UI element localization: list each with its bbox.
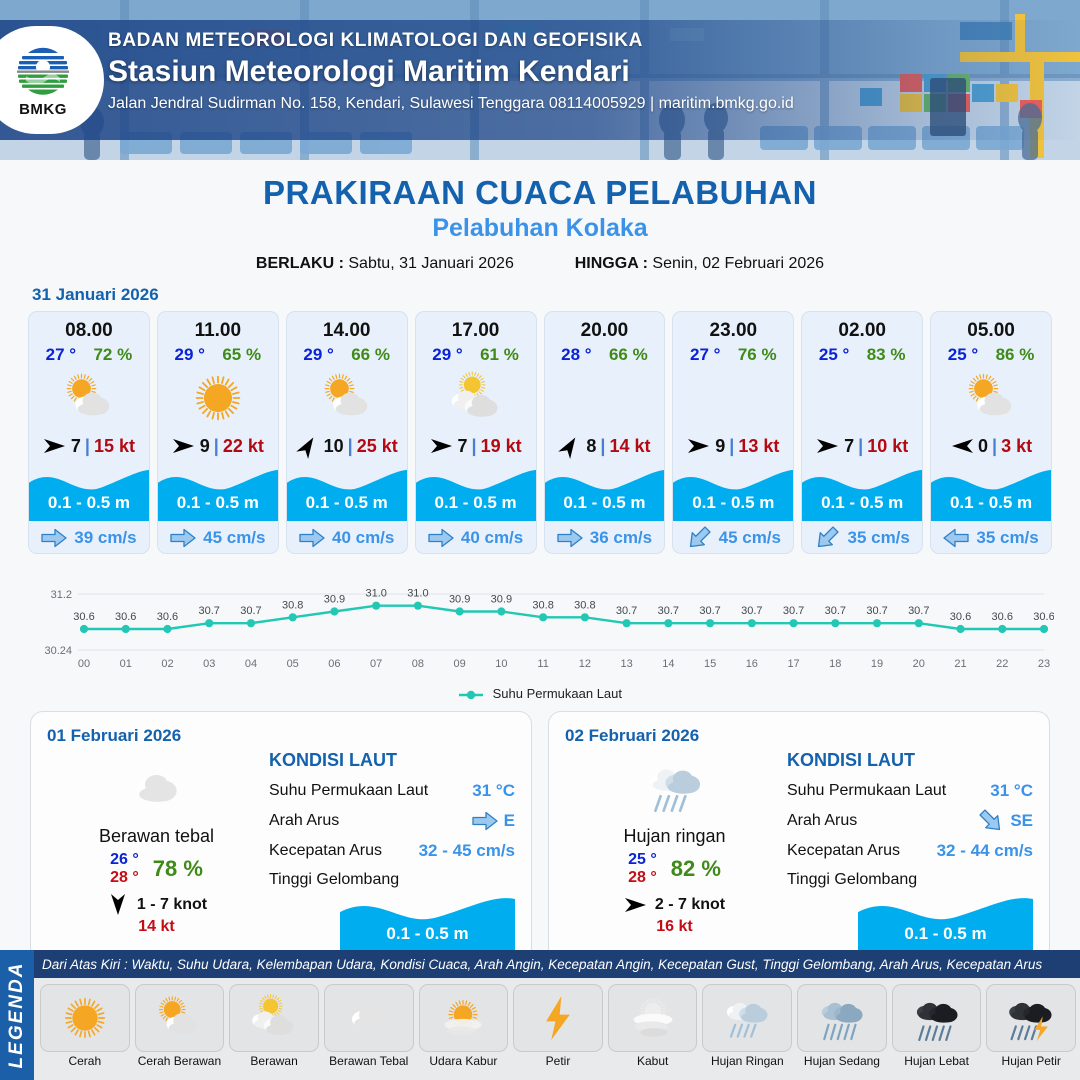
clouds-icon xyxy=(703,368,763,428)
legend-item-label: Cerah xyxy=(68,1055,101,1068)
daily-temp-max: 28 ° xyxy=(628,869,657,887)
agency-name: BADAN METEOROLOGI KLIMATOLOGI DAN GEOFIS… xyxy=(108,30,794,52)
sun-cloud-icon xyxy=(59,368,119,428)
svg-text:30.9: 30.9 xyxy=(324,594,345,606)
legend-item: Hujan Petir xyxy=(986,984,1076,1078)
current-direction-arrow-icon xyxy=(811,522,844,554)
card-weather-icon-wrap xyxy=(29,367,149,429)
legend-item: Petir xyxy=(513,984,603,1078)
sea-row-value: 32 - 44 cm/s xyxy=(937,841,1033,861)
sea-row-label: Tinggi Gelombang xyxy=(787,871,917,889)
card-wind: 8 | 14 kt xyxy=(545,429,665,463)
forecast-card[interactable]: 14.00 29 ° 66 % 10 | 25 kt 0.1 - 0.5 m 4… xyxy=(286,311,408,554)
forecast-card[interactable]: 17.00 29 ° 61 % 7 | 19 kt 0.1 - 0.5 m 40… xyxy=(415,311,537,554)
forecast-card[interactable]: 02.00 25 ° 83 % 7 | 10 kt 0.1 - 0.5 m 35… xyxy=(801,311,923,554)
current-direction-arrow-icon xyxy=(41,528,67,548)
daily-condition: Hujan ringan xyxy=(567,826,782,847)
card-wind: 10 | 25 kt xyxy=(287,429,407,463)
daily-temps: 26 ° 28 ° 78 % xyxy=(49,851,264,888)
card-temp-hum: 28 ° 66 % xyxy=(545,342,665,365)
cloud-icon xyxy=(342,991,396,1045)
rain-light-icon xyxy=(642,755,708,821)
card-wind-degree: 0 xyxy=(978,436,988,457)
svg-text:07: 07 xyxy=(370,658,382,670)
legend-item-label: Hujan Petir xyxy=(1002,1055,1061,1068)
daily-weather-icon-wrap xyxy=(49,754,264,822)
svg-text:30.8: 30.8 xyxy=(282,599,303,611)
legend-icon-box xyxy=(229,984,319,1052)
wind-direction-arrow-icon xyxy=(43,436,67,456)
forecast-card[interactable]: 05.00 25 ° 86 % 0 | 3 kt 0.1 - 0.5 m 35 … xyxy=(930,311,1052,554)
daily-left: Berawan tebal 26 ° 28 ° 78 % 1 - 7 knot … xyxy=(49,754,264,936)
svg-text:31.0: 31.0 xyxy=(407,588,428,600)
card-wave: 0.1 - 0.5 m xyxy=(29,463,149,521)
legend-icon-box xyxy=(324,984,414,1052)
svg-text:30.7: 30.7 xyxy=(783,605,804,617)
card-current: 45 cm/s xyxy=(158,521,278,554)
card-wind-separator: | xyxy=(600,436,605,457)
sea-row-value-wrap: 31 °C xyxy=(990,781,1033,801)
current-direction-arrow-icon xyxy=(299,528,325,548)
haze-icon xyxy=(436,991,490,1045)
current-direction-arrow-icon xyxy=(170,528,196,548)
sun-cloud-icon xyxy=(961,368,1021,428)
sea-row-value: 32 - 45 cm/s xyxy=(419,841,515,861)
daily-forecast-row: 01 Februari 2026 Berawan tebal 26 ° 28 °… xyxy=(0,701,1080,961)
wind-direction-arrow-icon xyxy=(108,893,128,917)
daily-wave: 0.1 - 0.5 m xyxy=(858,891,1033,953)
svg-text:30.7: 30.7 xyxy=(240,605,261,617)
fog-icon xyxy=(626,991,680,1045)
svg-text:30.7: 30.7 xyxy=(825,605,846,617)
svg-text:12: 12 xyxy=(579,658,591,670)
daily-gust: 16 kt xyxy=(567,918,782,936)
card-time: 08.00 xyxy=(29,312,149,342)
card-wind: 9 | 22 kt xyxy=(158,429,278,463)
svg-text:16: 16 xyxy=(746,658,758,670)
legend-note: Dari Atas Kiri : Waktu, Suhu Udara, Kele… xyxy=(34,950,1080,978)
card-wind-separator: | xyxy=(858,436,863,457)
card-temperature: 29 ° xyxy=(432,345,462,365)
card-temperature: 27 ° xyxy=(46,345,76,365)
forecast-card[interactable]: 11.00 29 ° 65 % 9 | 22 kt 0.1 - 0.5 m 45… xyxy=(157,311,279,554)
current-direction-arrow-icon xyxy=(943,528,969,548)
card-gust: 25 kt xyxy=(357,436,398,457)
bmkg-logo: BMKG xyxy=(0,26,104,134)
legend-icon-box xyxy=(40,984,130,1052)
sea-conditions-title: KONDISI LAUT xyxy=(787,750,1033,771)
current-direction-arrow-icon xyxy=(428,528,454,548)
legend-item: Berawan Tebal xyxy=(324,984,414,1078)
card-wind: 0 | 3 kt xyxy=(931,429,1051,463)
page-subtitle: Pelabuhan Kolaka xyxy=(0,214,1080,243)
card-humidity: 86 % xyxy=(996,345,1035,365)
legend-item: Kabut xyxy=(608,984,698,1078)
svg-text:15: 15 xyxy=(704,658,716,670)
sea-row-label: Tinggi Gelombang xyxy=(269,871,399,889)
card-wind-degree: 9 xyxy=(200,436,210,457)
svg-text:30.24: 30.24 xyxy=(44,645,72,657)
legend-item-label: Cerah Berawan xyxy=(138,1055,221,1068)
card-wind-separator: | xyxy=(992,436,997,457)
sun-cloud-icon xyxy=(152,991,206,1045)
card-weather-icon-wrap xyxy=(802,367,922,429)
card-temp-hum: 29 ° 61 % xyxy=(416,342,536,365)
legend-item-label: Berawan Tebal xyxy=(329,1055,408,1068)
svg-text:30.6: 30.6 xyxy=(992,611,1013,623)
svg-text:30.6: 30.6 xyxy=(73,611,94,623)
valid-from-label: BERLAKU : xyxy=(256,255,344,272)
card-current-speed: 35 cm/s xyxy=(847,528,909,548)
card-wind-degree: 7 xyxy=(458,436,468,457)
daily-wind-range: 1 - 7 knot xyxy=(137,896,207,914)
svg-text:13: 13 xyxy=(620,658,632,670)
forecast-card[interactable]: 20.00 28 ° 66 % 8 | 14 kt 0.1 - 0.5 m 36… xyxy=(544,311,666,554)
card-temperature: 25 ° xyxy=(819,345,849,365)
card-wave: 0.1 - 0.5 m xyxy=(158,463,278,521)
daily-temp-max: 28 ° xyxy=(110,869,139,887)
sea-row-label: Kecepatan Arus xyxy=(787,842,900,860)
sea-row-label: Kecepatan Arus xyxy=(269,842,382,860)
forecast-card[interactable]: 23.00 27 ° 76 % 9 | 13 kt 0.1 - 0.5 m 45… xyxy=(672,311,794,554)
daily-panel[interactable]: 02 Februari 2026 Hujan ringan 25 ° 28 ° … xyxy=(548,711,1050,961)
wind-direction-arrow-icon xyxy=(816,436,840,456)
svg-text:21: 21 xyxy=(954,658,966,670)
clouds-icon xyxy=(574,368,634,428)
legend-item: Hujan Sedang xyxy=(797,984,887,1078)
card-wave-height: 0.1 - 0.5 m xyxy=(673,493,793,513)
svg-text:08: 08 xyxy=(412,658,424,670)
sea-row-value-wrap: E xyxy=(472,811,515,831)
wind-direction-arrow-icon xyxy=(293,431,323,462)
legend-icon-box xyxy=(513,984,603,1052)
card-gust: 22 kt xyxy=(223,436,264,457)
sea-row: Suhu Permukaan Laut 31 °C xyxy=(787,781,1033,801)
wind-direction-arrow-icon xyxy=(950,436,974,456)
card-wave: 0.1 - 0.5 m xyxy=(545,463,665,521)
current-direction-arrow-icon xyxy=(975,805,1008,838)
valid-until-label: HINGGA : xyxy=(575,255,648,272)
svg-text:18: 18 xyxy=(829,658,841,670)
card-wind-separator: | xyxy=(348,436,353,457)
current-direction-arrow-icon xyxy=(682,522,715,554)
card-wave: 0.1 - 0.5 m xyxy=(287,463,407,521)
card-time: 05.00 xyxy=(931,312,1051,342)
card-time: 14.00 xyxy=(287,312,407,342)
card-wind: 7 | 15 kt xyxy=(29,429,149,463)
card-wave-height: 0.1 - 0.5 m xyxy=(802,493,922,513)
svg-text:23: 23 xyxy=(1038,658,1050,670)
card-wind: 9 | 13 kt xyxy=(673,429,793,463)
legend-item: Berawan xyxy=(229,984,319,1078)
card-gust: 19 kt xyxy=(481,436,522,457)
card-wind: 7 | 10 kt xyxy=(802,429,922,463)
card-wave: 0.1 - 0.5 m xyxy=(802,463,922,521)
sea-row: Tinggi Gelombang xyxy=(269,871,515,889)
card-temp-hum: 27 ° 72 % xyxy=(29,342,149,365)
card-wave: 0.1 - 0.5 m xyxy=(416,463,536,521)
legend-item-label: Kabut xyxy=(637,1055,668,1068)
card-temperature: 25 ° xyxy=(948,345,978,365)
card-current-speed: 45 cm/s xyxy=(719,528,781,548)
legend-icon-box xyxy=(797,984,887,1052)
svg-text:30.7: 30.7 xyxy=(658,605,679,617)
svg-text:03: 03 xyxy=(203,658,215,670)
card-current: 40 cm/s xyxy=(416,521,536,554)
card-wind-separator: | xyxy=(729,436,734,457)
card-current-speed: 39 cm/s xyxy=(74,528,136,548)
svg-text:30.7: 30.7 xyxy=(199,605,220,617)
svg-text:11: 11 xyxy=(537,658,548,670)
card-time: 11.00 xyxy=(158,312,278,342)
card-gust: 15 kt xyxy=(94,436,135,457)
legend-icon-box xyxy=(135,984,225,1052)
station-name: Stasiun Meteorologi Maritim Kendari xyxy=(108,55,794,89)
card-current-speed: 40 cm/s xyxy=(332,528,394,548)
sea-row-value-wrap: 32 - 44 cm/s xyxy=(937,841,1033,861)
sea-row-value: 31 °C xyxy=(472,781,515,801)
card-weather-icon-wrap xyxy=(673,367,793,429)
daily-gust: 14 kt xyxy=(49,918,264,936)
legend-item: Cerah Berawan xyxy=(135,984,225,1078)
svg-text:05: 05 xyxy=(287,658,299,670)
card-wave: 0.1 - 0.5 m xyxy=(931,463,1051,521)
svg-text:30.6: 30.6 xyxy=(1033,611,1054,623)
clouds-icon xyxy=(832,368,892,428)
card-temperature: 28 ° xyxy=(561,345,591,365)
legend-items: Cerah Cerah Berawan Berawan Berawan Teba… xyxy=(34,978,1080,1080)
page-header: BMKG BADAN METEOROLOGI KLIMATOLOGI DAN G… xyxy=(0,0,1080,160)
station-address: Jalan Jendral Sudirman No. 158, Kendari,… xyxy=(108,95,794,113)
daily-wave: 0.1 - 0.5 m xyxy=(340,891,515,953)
svg-text:09: 09 xyxy=(454,658,466,670)
legend-side-title: LEGENDA xyxy=(6,962,28,1069)
card-wind-degree: 10 xyxy=(324,436,344,457)
hourly-forecast-row: 08.00 27 ° 72 % 7 | 15 kt 0.1 - 0.5 m 39… xyxy=(0,311,1080,554)
card-time: 20.00 xyxy=(545,312,665,342)
legend-icon-box xyxy=(986,984,1076,1052)
legend-icon-box xyxy=(419,984,509,1052)
svg-text:31.0: 31.0 xyxy=(365,588,386,600)
sea-row-label: Arah Arus xyxy=(269,812,339,830)
card-gust: 10 kt xyxy=(867,436,908,457)
sea-row: Tinggi Gelombang xyxy=(787,871,1033,889)
card-wind: 7 | 19 kt xyxy=(416,429,536,463)
daily-weather-icon-wrap xyxy=(567,754,782,822)
card-wind-separator: | xyxy=(85,436,90,457)
valid-until-value: Senin, 02 Februari 2026 xyxy=(652,255,824,272)
card-current-speed: 45 cm/s xyxy=(203,528,265,548)
wind-direction-arrow-icon xyxy=(430,436,454,456)
lightning-icon xyxy=(531,991,585,1045)
card-wind-separator: | xyxy=(214,436,219,457)
daily-wave-height: 0.1 - 0.5 m xyxy=(340,924,515,944)
sun-cloud-icon xyxy=(317,368,377,428)
card-current-speed: 35 cm/s xyxy=(976,528,1038,548)
svg-text:10: 10 xyxy=(495,658,507,670)
legend-item-label: Udara Kabur xyxy=(429,1055,497,1068)
legend-item: Cerah xyxy=(40,984,130,1078)
svg-text:04: 04 xyxy=(245,658,257,670)
svg-text:30.7: 30.7 xyxy=(741,605,762,617)
legend-icon-box xyxy=(608,984,698,1052)
card-weather-icon-wrap xyxy=(416,367,536,429)
card-wind-degree: 7 xyxy=(71,436,81,457)
daily-sea-conditions: KONDISI LAUT Suhu Permukaan Laut 31 °C A… xyxy=(787,750,1033,889)
sea-row: Arah Arus SE xyxy=(787,811,1033,831)
sea-row-label: Suhu Permukaan Laut xyxy=(787,782,946,800)
sea-row: Arah Arus E xyxy=(269,811,515,831)
legend-item-label: Petir xyxy=(546,1055,571,1068)
rain-moderate-icon xyxy=(815,991,869,1045)
bmkg-emblem-icon xyxy=(12,43,74,99)
page-title: PRAKIRAAN CUACA PELABUHAN xyxy=(0,174,1080,212)
card-temp-hum: 29 ° 65 % xyxy=(158,342,278,365)
card-gust: 14 kt xyxy=(609,436,650,457)
daily-sea-conditions: KONDISI LAUT Suhu Permukaan Laut 31 °C A… xyxy=(269,750,515,889)
svg-text:00: 00 xyxy=(78,658,90,670)
legend-item-label: Hujan Sedang xyxy=(804,1055,880,1068)
wind-direction-arrow-icon xyxy=(624,895,648,915)
card-wave: 0.1 - 0.5 m xyxy=(673,463,793,521)
daily-wind: 2 - 7 knot xyxy=(567,895,782,915)
card-current: 39 cm/s xyxy=(29,521,149,554)
svg-text:30.9: 30.9 xyxy=(491,594,512,606)
card-wind-degree: 9 xyxy=(715,436,725,457)
card-wave-height: 0.1 - 0.5 m xyxy=(545,493,665,513)
card-wave-height: 0.1 - 0.5 m xyxy=(931,493,1051,513)
card-wave-height: 0.1 - 0.5 m xyxy=(287,493,407,513)
card-wind-degree: 8 xyxy=(586,436,596,457)
card-humidity: 83 % xyxy=(867,345,906,365)
sun-icon xyxy=(188,368,248,428)
wind-direction-arrow-icon xyxy=(172,436,196,456)
daily-temp-min: 26 ° xyxy=(110,851,139,869)
svg-text:30.7: 30.7 xyxy=(699,605,720,617)
daily-date: 01 Februari 2026 xyxy=(47,726,515,746)
card-weather-icon-wrap xyxy=(158,367,278,429)
card-humidity: 65 % xyxy=(222,345,261,365)
wind-direction-arrow-icon xyxy=(687,436,711,456)
sea-row-label: Suhu Permukaan Laut xyxy=(269,782,428,800)
card-humidity: 76 % xyxy=(738,345,777,365)
wind-direction-arrow-icon xyxy=(556,431,586,462)
card-current: 40 cm/s xyxy=(287,521,407,554)
legend-item: Hujan Ringan xyxy=(702,984,792,1078)
card-temp-hum: 27 ° 76 % xyxy=(673,342,793,365)
daily-date: 02 Februari 2026 xyxy=(565,726,1033,746)
legend-item-label: Berawan xyxy=(250,1055,297,1068)
svg-text:30.6: 30.6 xyxy=(157,611,178,623)
rain-heavy-icon xyxy=(910,991,964,1045)
sea-row-value-wrap: 32 - 45 cm/s xyxy=(419,841,515,861)
svg-text:30.6: 30.6 xyxy=(950,611,971,623)
sea-row-value: E xyxy=(504,811,515,831)
daily-left: Hujan ringan 25 ° 28 ° 82 % 2 - 7 knot 1… xyxy=(567,754,782,936)
card-humidity: 66 % xyxy=(351,345,390,365)
legend-side-band: LEGENDA xyxy=(0,950,34,1080)
svg-text:02: 02 xyxy=(161,658,173,670)
rain-thunder-icon xyxy=(1004,991,1058,1045)
svg-text:17: 17 xyxy=(787,658,799,670)
svg-text:31.2: 31.2 xyxy=(51,589,72,601)
card-temperature: 29 ° xyxy=(175,345,205,365)
legend-item-label: Hujan Lebat xyxy=(904,1055,969,1068)
card-gust: 3 kt xyxy=(1001,436,1032,457)
chart-legend: Suhu Permukaan Laut xyxy=(0,686,1080,701)
sea-row-value-wrap: SE xyxy=(978,811,1033,831)
card-humidity: 66 % xyxy=(609,345,648,365)
card-wave-height: 0.1 - 0.5 m xyxy=(158,493,278,513)
legend-marker-icon xyxy=(458,689,484,701)
card-weather-icon-wrap xyxy=(931,367,1051,429)
svg-text:30.8: 30.8 xyxy=(574,599,595,611)
svg-text:30.7: 30.7 xyxy=(616,605,637,617)
sun-clouds-icon xyxy=(446,368,506,428)
sea-conditions-title: KONDISI LAUT xyxy=(269,750,515,771)
forecast-card[interactable]: 08.00 27 ° 72 % 7 | 15 kt 0.1 - 0.5 m 39… xyxy=(28,311,150,554)
sst-chart: 31.230.2430.60030.60130.60230.70330.7043… xyxy=(26,564,1054,684)
rain-light-icon xyxy=(720,991,774,1045)
sea-row-label: Arah Arus xyxy=(787,812,857,830)
current-direction-arrow-icon xyxy=(557,528,583,548)
svg-text:30.6: 30.6 xyxy=(115,611,136,623)
daily-temp-min: 25 ° xyxy=(628,851,657,869)
daily-wind: 1 - 7 knot xyxy=(49,895,264,915)
legend-item: Hujan Lebat xyxy=(892,984,982,1078)
sea-row: Suhu Permukaan Laut 31 °C xyxy=(269,781,515,801)
card-current: 45 cm/s xyxy=(673,521,793,554)
card-temperature: 29 ° xyxy=(303,345,333,365)
svg-text:01: 01 xyxy=(120,658,132,670)
current-direction-arrow-icon xyxy=(472,811,498,831)
card-current-speed: 36 cm/s xyxy=(590,528,652,548)
card-current: 36 cm/s xyxy=(545,521,665,554)
legend-section: LEGENDA Dari Atas Kiri : Waktu, Suhu Uda… xyxy=(0,950,1080,1080)
daily-temps: 25 ° 28 ° 82 % xyxy=(567,851,782,888)
card-time: 17.00 xyxy=(416,312,536,342)
header-text-block: BADAN METEOROLOGI KLIMATOLOGI DAN GEOFIS… xyxy=(108,30,794,113)
card-current: 35 cm/s xyxy=(802,521,922,554)
cloud-icon xyxy=(124,755,190,821)
card-weather-icon-wrap xyxy=(287,367,407,429)
svg-text:19: 19 xyxy=(871,658,883,670)
daily-humidity: 82 % xyxy=(671,856,721,882)
card-wind-separator: | xyxy=(472,436,477,457)
daily-condition: Berawan tebal xyxy=(49,826,264,847)
legend-icon-box xyxy=(892,984,982,1052)
bmkg-logo-text: BMKG xyxy=(19,101,67,118)
daily-panel[interactable]: 01 Februari 2026 Berawan tebal 26 ° 28 °… xyxy=(30,711,532,961)
card-temp-hum: 29 ° 66 % xyxy=(287,342,407,365)
validity-line: BERLAKU : Sabtu, 31 Januari 2026 HINGGA … xyxy=(0,255,1080,273)
sun-icon xyxy=(58,991,112,1045)
card-wave-height: 0.1 - 0.5 m xyxy=(29,493,149,513)
svg-text:30.8: 30.8 xyxy=(532,599,553,611)
svg-text:30.9: 30.9 xyxy=(449,594,470,606)
legend-icon-box xyxy=(702,984,792,1052)
card-weather-icon-wrap xyxy=(545,367,665,429)
card-humidity: 61 % xyxy=(480,345,519,365)
legend-item-label: Hujan Ringan xyxy=(711,1055,784,1068)
card-time: 02.00 xyxy=(802,312,922,342)
svg-text:14: 14 xyxy=(662,658,674,670)
card-current-speed: 40 cm/s xyxy=(461,528,523,548)
sun-clouds-icon xyxy=(247,991,301,1045)
card-temp-hum: 25 ° 83 % xyxy=(802,342,922,365)
card-current: 35 cm/s xyxy=(931,521,1051,554)
svg-text:30.7: 30.7 xyxy=(908,605,929,617)
